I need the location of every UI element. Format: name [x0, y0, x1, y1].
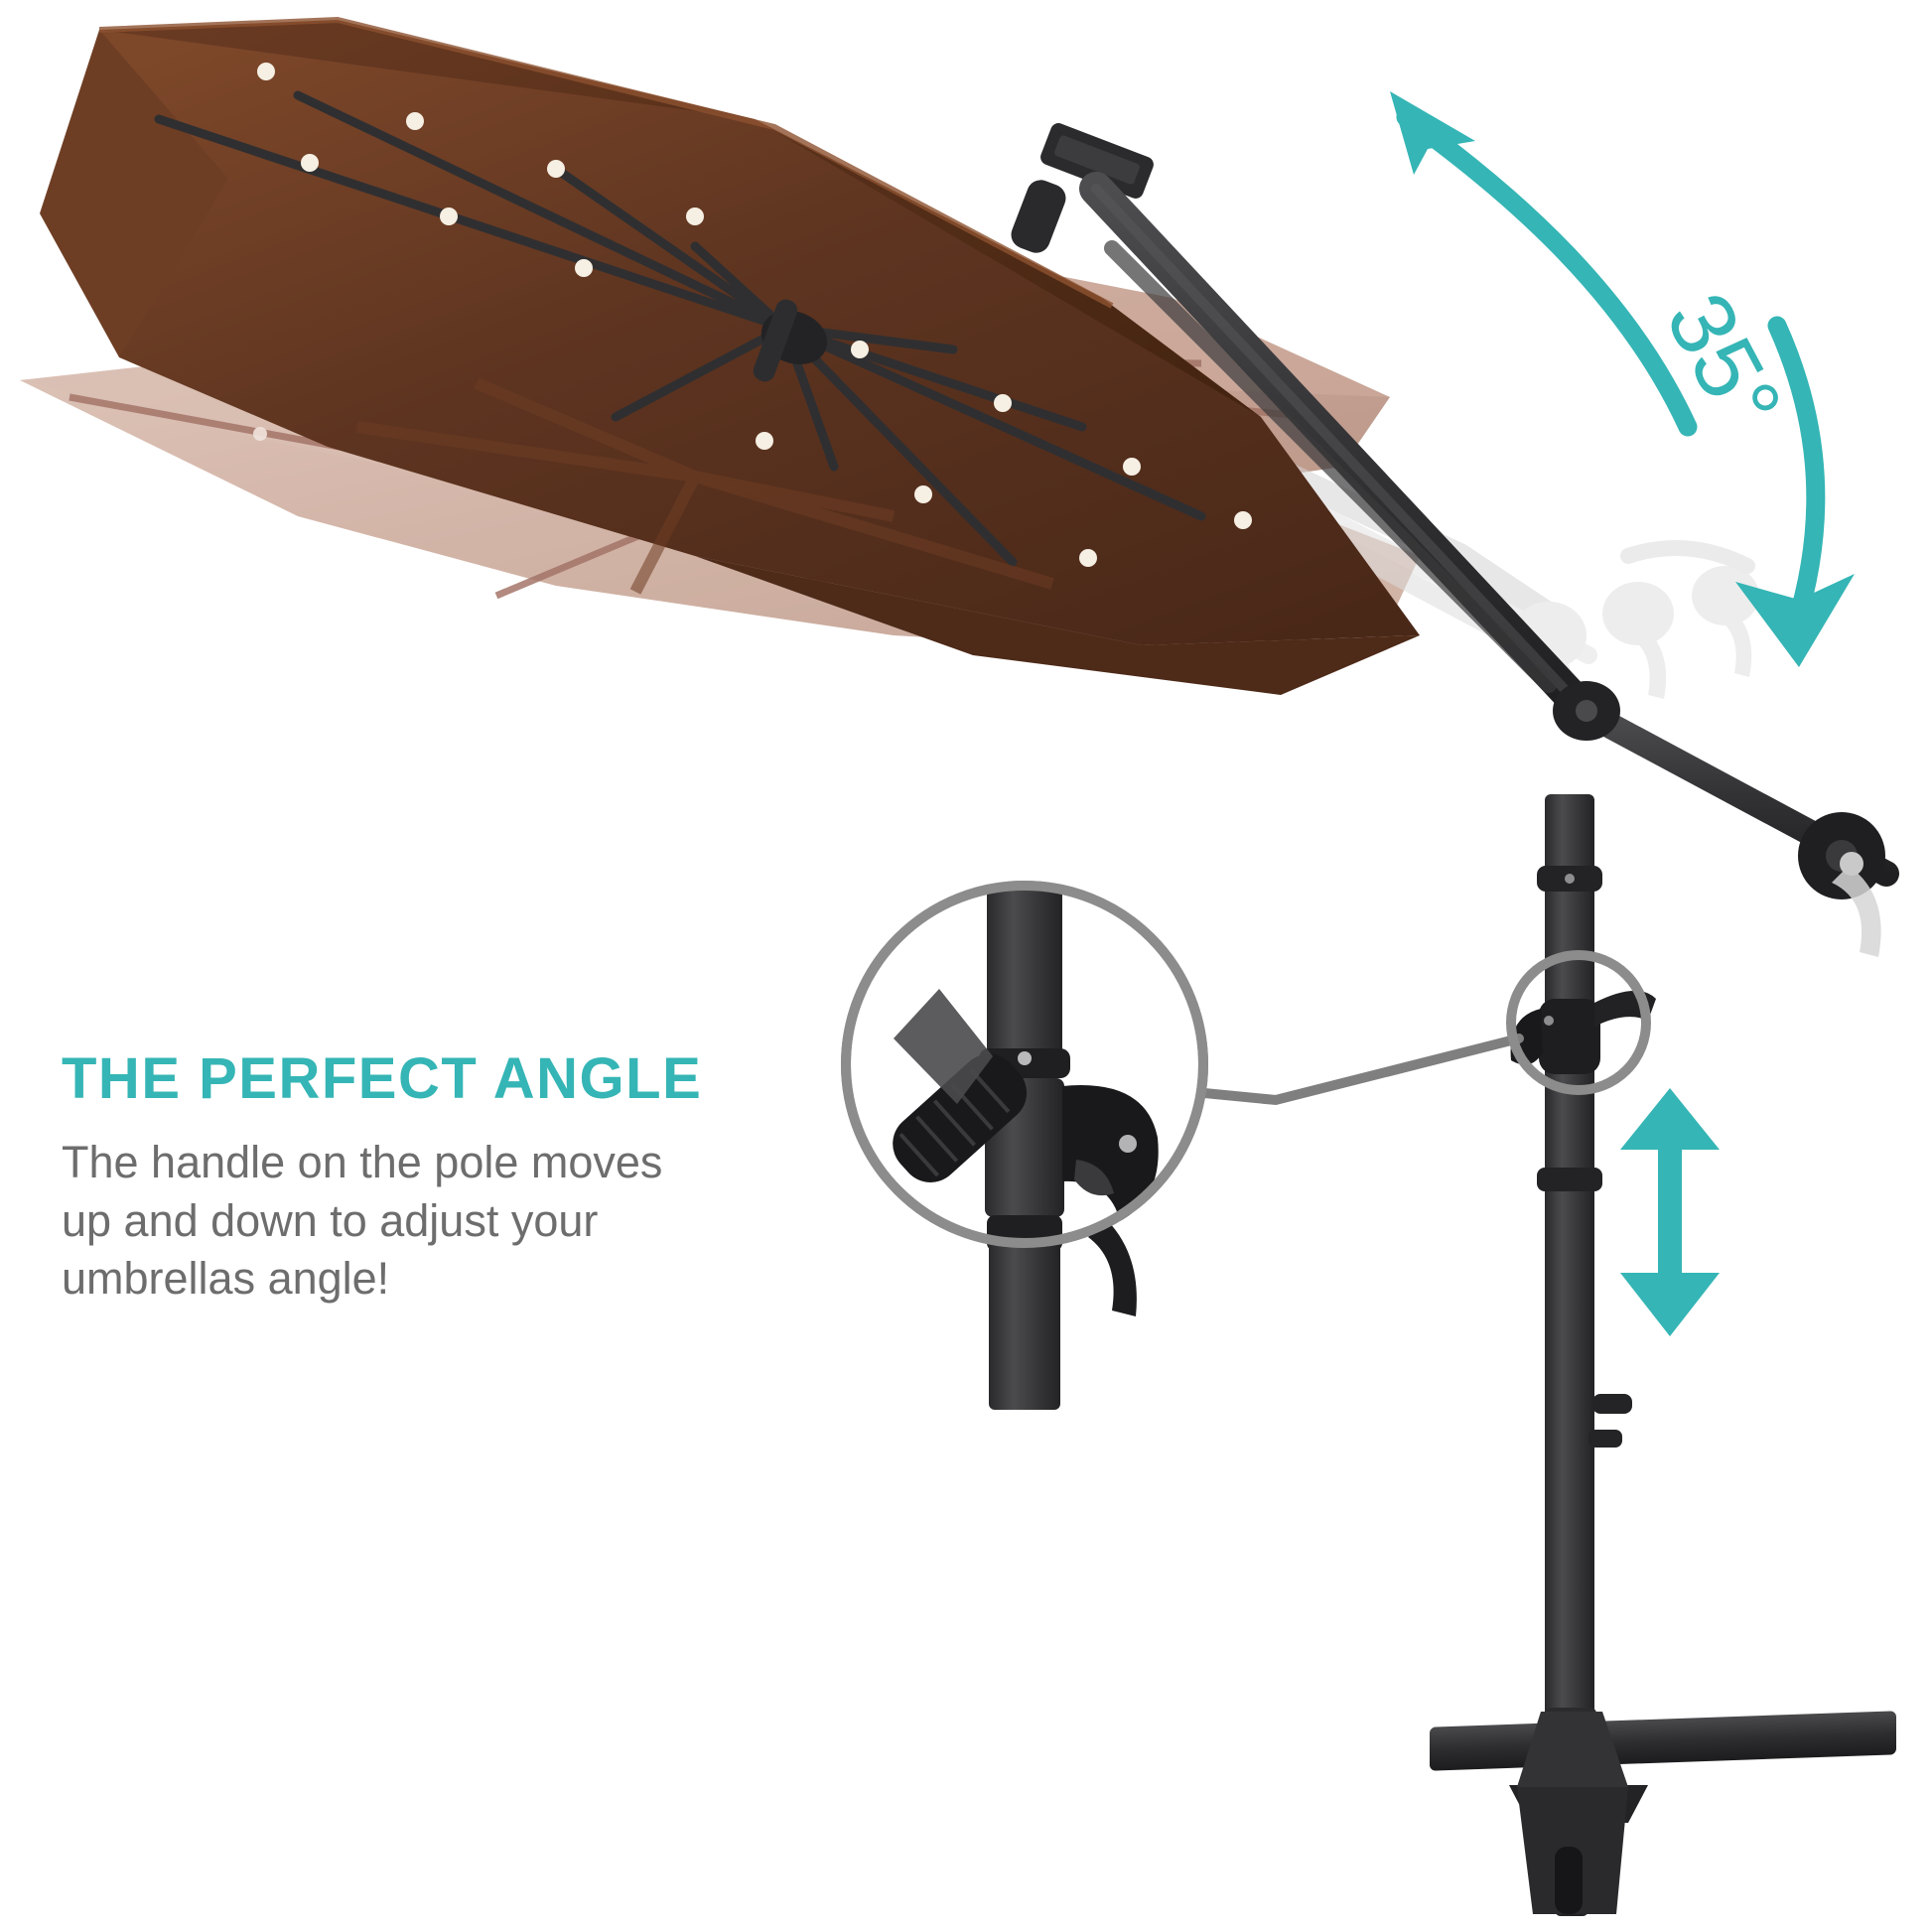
arm-elbow-joint: [1553, 681, 1620, 741]
feature-callout-text: THE PERFECT ANGLE The handle on the pole…: [62, 1050, 816, 1309]
arc-arrow-head-down: [1735, 574, 1855, 667]
callout-body-line-1: The handle on the pole moves: [62, 1134, 816, 1192]
callout-body-line-2: up and down to adjust your: [62, 1192, 816, 1251]
height-arrow-head-up: [1620, 1088, 1720, 1150]
angle-label: 35°: [1646, 278, 1800, 448]
page-title: THE PERFECT ANGLE: [62, 1050, 816, 1108]
height-adjust-double-arrow: [1620, 1088, 1720, 1336]
svg-text:35°: 35°: [1646, 278, 1800, 448]
umbrella-illustration: 35°: [0, 0, 1932, 1932]
product-feature-image: 35°: [0, 0, 1932, 1932]
cross-base: [1430, 1708, 1896, 1916]
pole-lock-knob: [1588, 1394, 1632, 1448]
height-arrow-head-down: [1620, 1273, 1720, 1336]
handle-detail-magnifier: [846, 886, 1646, 1410]
pole-collar-lower: [1537, 1168, 1602, 1191]
callout-body: The handle on the pole moves up and down…: [62, 1134, 816, 1309]
callout-body-line-3: umbrellas angle!: [62, 1250, 816, 1309]
